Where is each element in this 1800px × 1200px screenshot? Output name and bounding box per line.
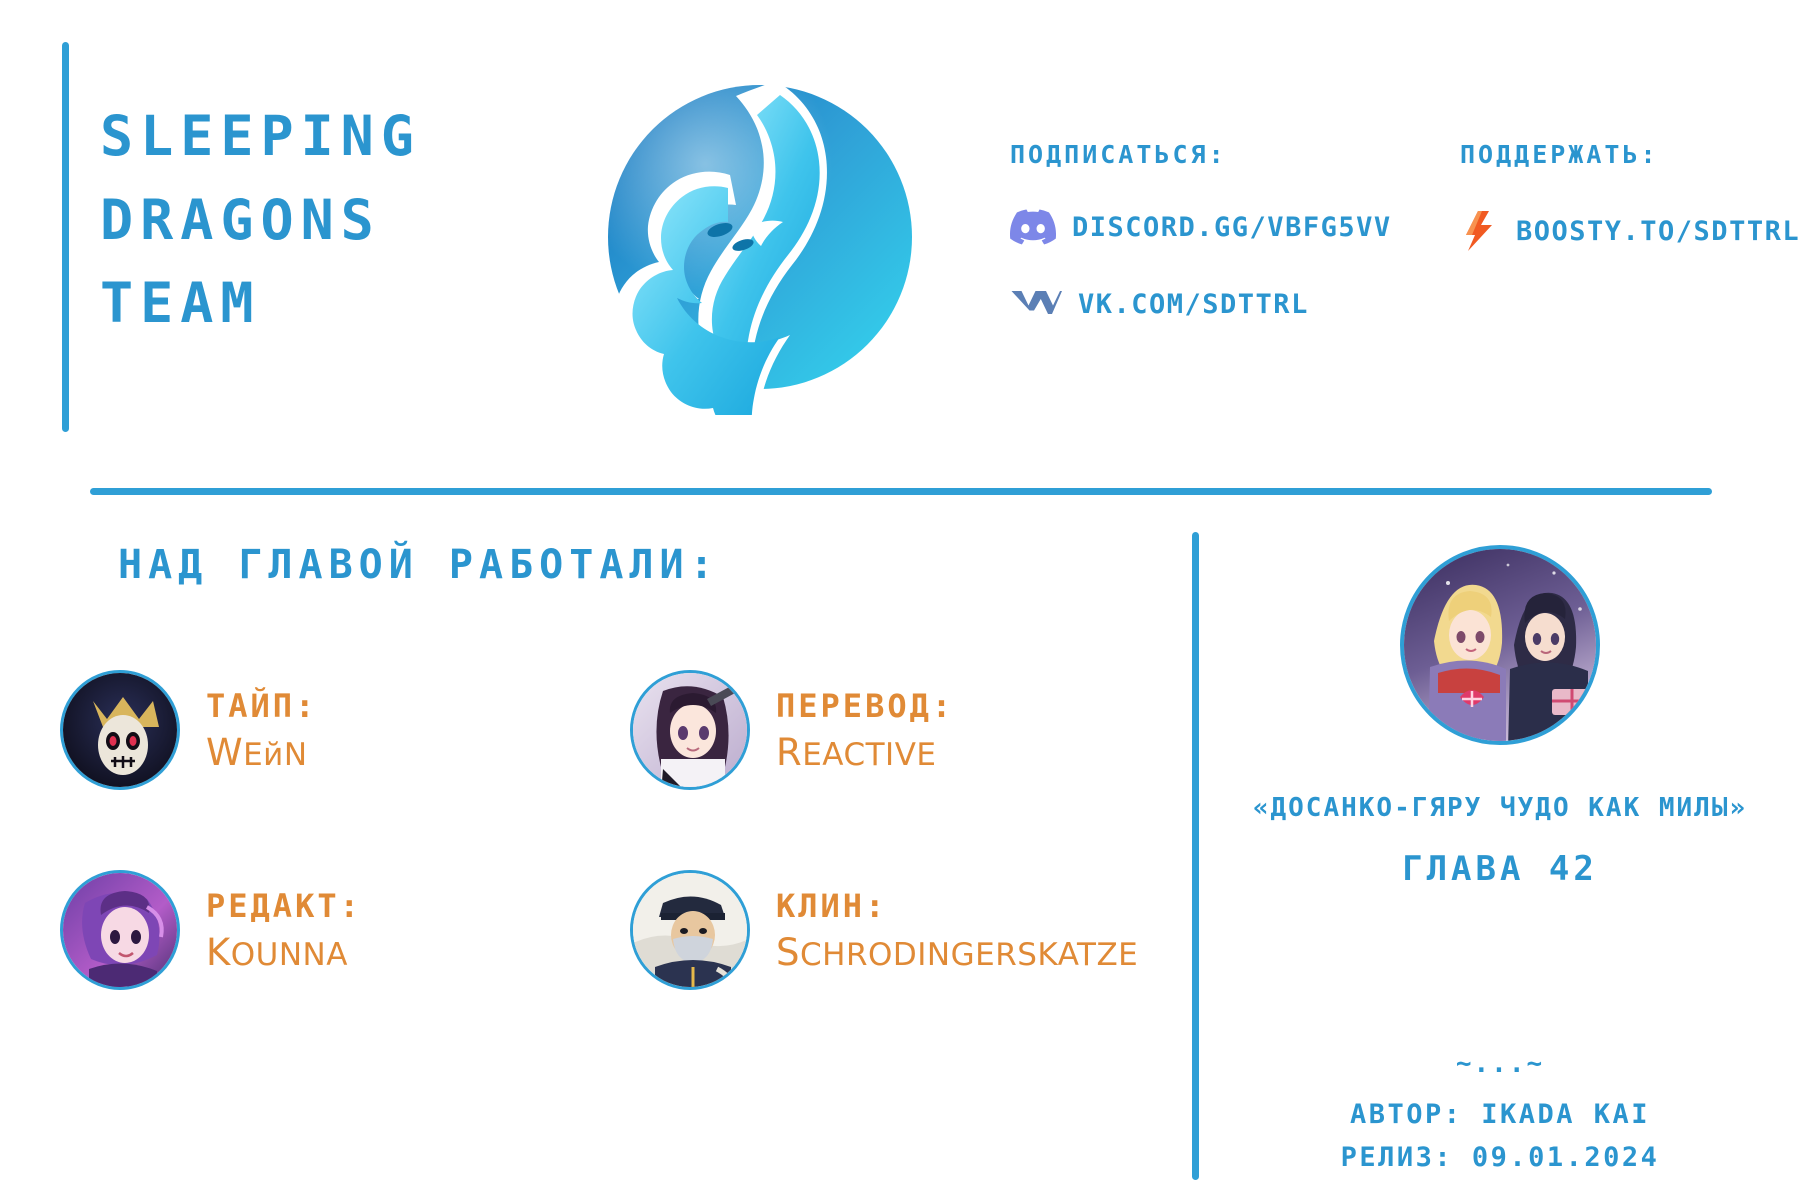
vk-icon	[1010, 287, 1062, 321]
credits-grid: ТАЙП: WEйN	[60, 630, 1160, 1030]
avatar-typer	[60, 670, 180, 790]
discord-icon	[1010, 209, 1056, 245]
dragon-emblem-icon	[580, 55, 940, 415]
release-date-line: РЕЛИЗ: 09.01.2024	[1341, 1142, 1660, 1173]
avatar-translator	[630, 670, 750, 790]
support-heading: ПОДДЕРЖАТЬ:	[1460, 140, 1800, 169]
credits-page: SLEEPING DRAGONS TEAM	[0, 0, 1800, 1200]
brand-line-2: DRAGONS	[100, 179, 421, 263]
brand-line-3: TEAM	[100, 262, 421, 346]
discord-link[interactable]: DISCORD.GG/VBFG5VV	[1010, 209, 1392, 245]
credits-title: НАД ГЛАВОЙ РАБОТАЛИ:	[118, 542, 720, 588]
boosty-url: BOOSTY.TO/SDTTRL	[1516, 216, 1800, 247]
credit-name-translator: REACTIVE	[776, 731, 954, 774]
credit-editor: РЕДАКТ: KOUNNA	[60, 830, 630, 1030]
avatar-editor	[60, 870, 180, 990]
discord-url: DISCORD.GG/VBFG5VV	[1072, 212, 1392, 243]
brand-accent-rule	[62, 42, 69, 432]
manga-cover-thumbnail	[1400, 545, 1600, 745]
vk-url: VK.COM/SDTTRL	[1078, 289, 1309, 320]
release-panel: «ДОСАНКО-ГЯРУ ЧУДО КАК МИЛЫ» ГЛАВА 42 ~.…	[1240, 520, 1760, 1180]
brand-line-1: SLEEPING	[100, 95, 421, 179]
credit-name-typer: WEйN	[206, 731, 317, 774]
vk-link[interactable]: VK.COM/SDTTRL	[1010, 287, 1392, 321]
credit-translator: ПЕРЕВОД: REACTIVE	[630, 630, 1200, 830]
header-section: SLEEPING DRAGONS TEAM	[0, 0, 1800, 480]
brand-title: SLEEPING DRAGONS TEAM	[100, 95, 421, 346]
credit-name-cleaner: SCHRODINGERSKATZE	[776, 931, 1138, 974]
credit-name-editor: KOUNNA	[206, 931, 362, 974]
credit-cleaner: КЛИН: SCHRODINGERSKATZE	[630, 830, 1200, 1030]
support-column: ПОДДЕРЖАТЬ: BOOSTY.TO/SDTTRL	[1460, 140, 1800, 295]
credit-role-cleaner: КЛИН:	[776, 887, 1138, 925]
credit-role-translator: ПЕРЕВОД:	[776, 687, 954, 725]
boosty-icon	[1460, 209, 1500, 253]
separator-tilde: ~...~	[1456, 1049, 1544, 1079]
author-line: АВТОР: IKADA KAI	[1350, 1099, 1650, 1130]
subscribe-heading: ПОДПИСАТЬСЯ:	[1010, 140, 1392, 169]
avatar-cleaner	[630, 870, 750, 990]
header-divider	[90, 488, 1712, 495]
credit-text-typer: ТАЙП: WEйN	[206, 687, 317, 774]
subscribe-column: ПОДПИСАТЬСЯ: DISCORD.GG/VBFG5VV	[1010, 140, 1392, 363]
manga-title: «ДОСАНКО-ГЯРУ ЧУДО КАК МИЛЫ»	[1253, 793, 1747, 823]
credit-role-typer: ТАЙП:	[206, 687, 317, 725]
manga-chapter: ГЛАВА 42	[1402, 849, 1598, 889]
credit-role-editor: РЕДАКТ:	[206, 887, 362, 925]
credit-text-translator: ПЕРЕВОД: REACTIVE	[776, 687, 954, 774]
credit-text-editor: РЕДАКТ: KOUNNA	[206, 887, 362, 974]
credit-text-cleaner: КЛИН: SCHRODINGERSKATZE	[776, 887, 1138, 974]
boosty-link[interactable]: BOOSTY.TO/SDTTRL	[1460, 209, 1800, 253]
credit-typer: ТАЙП: WEйN	[60, 630, 630, 830]
credits-section: НАД ГЛАВОЙ РАБОТАЛИ:	[0, 500, 1800, 1200]
